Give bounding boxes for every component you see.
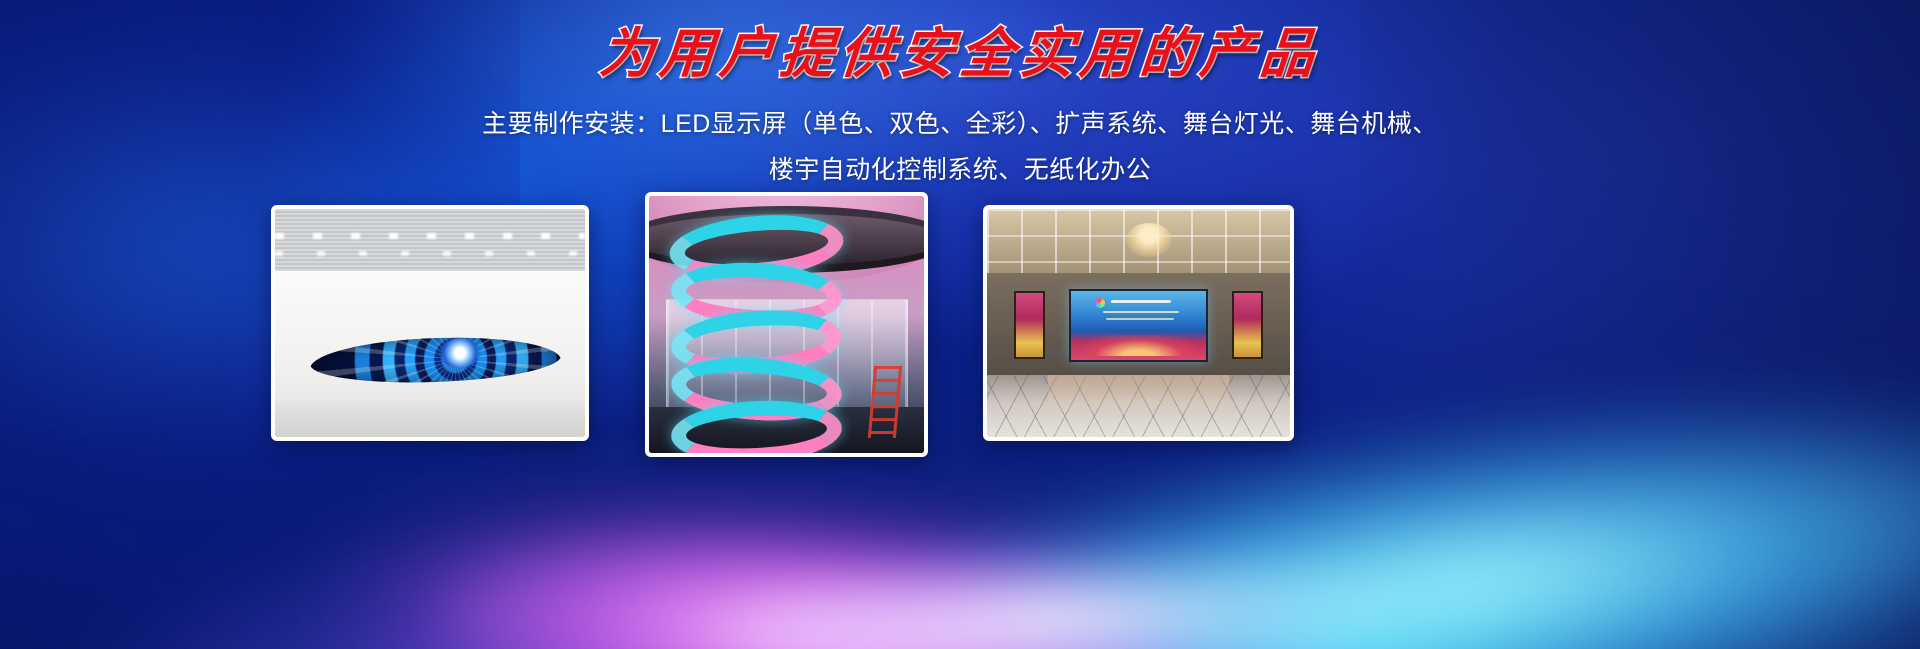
spiral-led-helix (671, 211, 842, 447)
led-side-panel-right (1232, 291, 1262, 359)
photo-gallery (0, 0, 1920, 649)
lobby-ceiling (275, 209, 585, 277)
eye-core-glow (439, 338, 481, 368)
photo-spiral-led-screen (649, 196, 924, 453)
chandelier-light (1126, 223, 1172, 257)
photo-eye-scene (275, 209, 585, 437)
screen-title-line (1111, 300, 1171, 303)
photo-conference-hall-led (987, 209, 1290, 437)
hall-floor (987, 375, 1290, 437)
photo-card-conference-hall-led[interactable] (983, 205, 1294, 441)
photo-hall-scene (987, 209, 1290, 437)
main-led-wall (1069, 289, 1208, 362)
photo-card-eye-led-screen[interactable] (271, 205, 589, 441)
screen-logo-icon (1095, 298, 1105, 308)
photo-eye-led-screen (275, 209, 585, 437)
eye-screen-wrapper (294, 296, 573, 401)
lobby-floor (275, 401, 585, 437)
screen-subtitle-line (1106, 318, 1174, 320)
eye-shaped-led-panel (310, 333, 562, 386)
screen-subtitle-line (1103, 311, 1179, 313)
promo-banner: 为用户提供安全实用的产品 主要制作安装：LED显示屏（单色、双色、全彩）、扩声系… (0, 0, 1920, 649)
photo-spiral-scene (649, 196, 924, 453)
led-side-panel-left (1014, 291, 1044, 359)
photo-card-spiral-led-screen[interactable] (645, 192, 928, 457)
